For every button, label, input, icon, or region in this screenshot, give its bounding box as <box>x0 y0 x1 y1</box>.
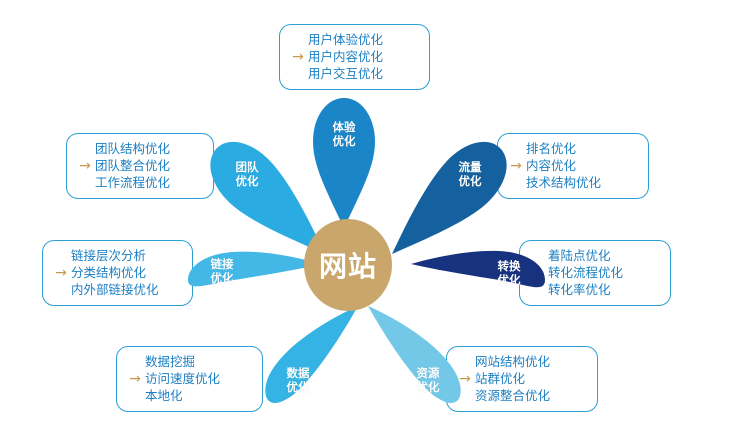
petal-link[interactable]: 链接 优化 <box>186 246 322 308</box>
info-line: 访问速度优化 <box>145 371 256 387</box>
info-line: 链接层次分析 <box>71 248 186 264</box>
info-box-team[interactable]: → 团队结构优化 团队整合优化 工作流程优化 <box>66 133 214 199</box>
info-line: 转化率优化 <box>548 282 664 298</box>
info-line: 用户交互优化 <box>308 66 423 82</box>
info-line: 技术结构优化 <box>526 175 642 191</box>
info-box-traffic[interactable]: → 排名优化 内容优化 技术结构优化 <box>497 133 649 199</box>
info-line: 用户体验优化 <box>308 32 423 48</box>
info-line: 团队整合优化 <box>95 158 207 174</box>
info-box-experience-lines: 用户体验优化 用户内容优化 用户交互优化 <box>308 32 429 82</box>
arrow-icon: → <box>75 159 95 173</box>
info-box-data[interactable]: → 数据挖掘 访问速度优化 本地化 <box>116 346 263 412</box>
info-line: 排名优化 <box>526 141 642 157</box>
info-box-team-lines: 团队结构优化 团队整合优化 工作流程优化 <box>95 141 213 191</box>
info-line: 资源整合优化 <box>475 388 591 404</box>
info-box-link[interactable]: → 链接层次分析 分类结构优化 内外部链接优化 <box>42 240 193 306</box>
center-node-website[interactable]: 网站 <box>304 219 392 311</box>
petal-traffic[interactable]: 流量 优化 <box>392 138 514 254</box>
arrow-icon: → <box>288 50 308 64</box>
info-box-data-lines: 数据挖掘 访问速度优化 本地化 <box>145 354 262 404</box>
arrow-icon: → <box>51 266 71 280</box>
info-line: 本地化 <box>145 388 256 404</box>
info-line: 内外部链接优化 <box>71 282 186 298</box>
info-line: 分类结构优化 <box>71 265 186 281</box>
info-box-link-lines: 链接层次分析 分类结构优化 内外部链接优化 <box>71 248 192 298</box>
info-line: 站群优化 <box>475 371 591 387</box>
info-box-resource[interactable]: → 网站结构优化 站群优化 资源整合优化 <box>446 346 598 412</box>
petal-data[interactable]: 数据 优化 <box>264 306 358 416</box>
info-line: 着陆点优化 <box>548 248 664 264</box>
info-line: 用户内容优化 <box>308 49 423 65</box>
info-line: 内容优化 <box>526 158 642 174</box>
petal-team[interactable]: 团队 优化 <box>203 138 325 254</box>
info-box-experience[interactable]: → 用户体验优化 用户内容优化 用户交互优化 <box>279 24 430 90</box>
center-node-label: 网站 <box>319 245 377 285</box>
arrow-icon: → <box>125 372 145 386</box>
info-box-conversion-lines: 着陆点优化 转化流程优化 转化率优化 <box>548 248 670 298</box>
info-line: 团队结构优化 <box>95 141 207 157</box>
info-line: 转化流程优化 <box>548 265 664 281</box>
seo-flower-diagram: → 用户体验优化 用户内容优化 用户交互优化 → 团队结构优化 团队整合优化 工… <box>0 0 734 448</box>
petal-conversion[interactable]: 转换 优化 <box>411 246 547 314</box>
info-box-resource-lines: 网站结构优化 站群优化 资源整合优化 <box>475 354 597 404</box>
info-line: 数据挖掘 <box>145 354 256 370</box>
info-line: 网站结构优化 <box>475 354 591 370</box>
petal-resource[interactable]: 资源 优化 <box>368 306 462 416</box>
info-box-traffic-lines: 排名优化 内容优化 技术结构优化 <box>526 141 648 191</box>
info-line: 工作流程优化 <box>95 175 207 191</box>
